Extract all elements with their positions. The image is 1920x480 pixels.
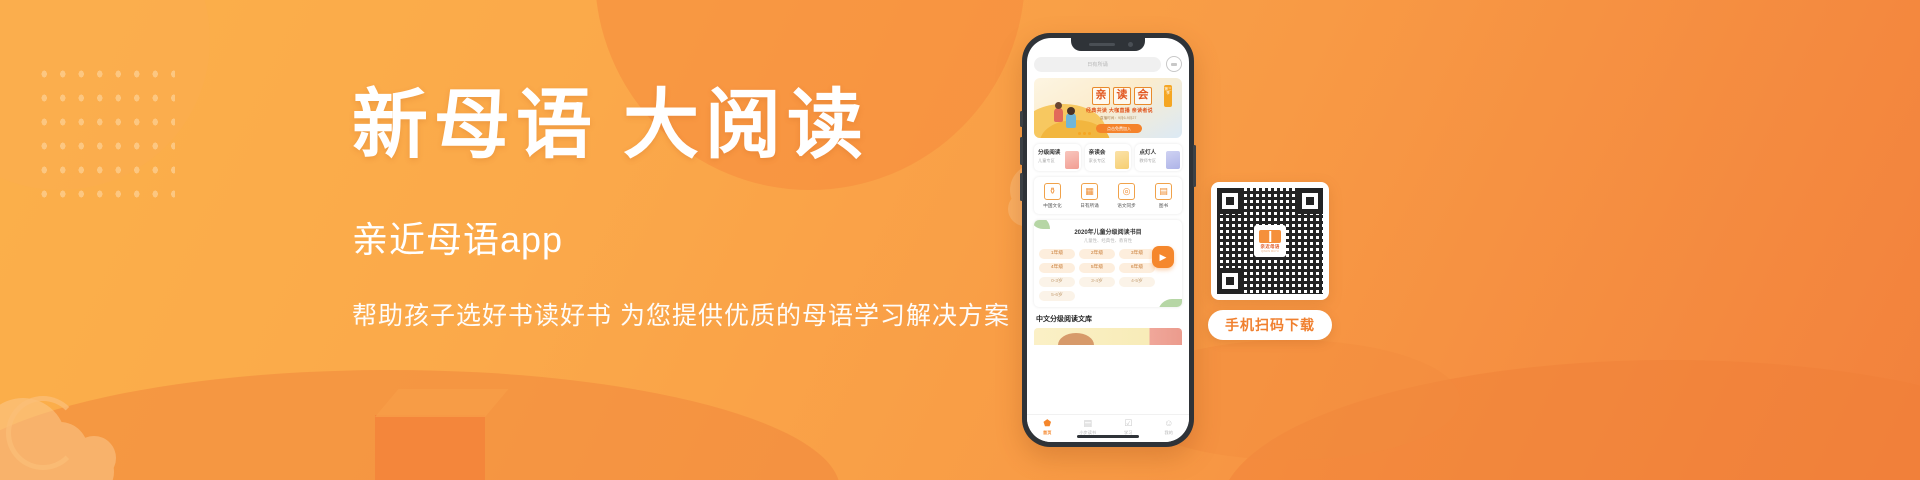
sync-icon: ◎ [1118, 183, 1135, 200]
tab-home[interactable]: ⬟ 首页 [1027, 419, 1068, 436]
message-icon[interactable] [1166, 56, 1182, 72]
tab-label: 我的 [1149, 430, 1190, 436]
phone-volume-up-button [1020, 137, 1023, 165]
phone-home-indicator [1077, 435, 1139, 438]
promo-child-illustration-2 [1066, 113, 1076, 128]
banner-headline: 新母语 大阅读 [352, 88, 1012, 164]
promo-ribbon: 第三季 [1164, 85, 1172, 107]
promo-subtitle: 经典共读 大咖直播 亲读者说 [1086, 107, 1153, 114]
category-thumbnail [1115, 151, 1129, 169]
promo-title-char: 会 [1134, 87, 1152, 105]
leaf-decoration-top [1034, 220, 1050, 229]
quick-link-label: 日有所诵 [1071, 203, 1108, 209]
promo-title: 亲 读 会 [1092, 87, 1152, 105]
play-video-icon[interactable]: ▶ [1152, 246, 1174, 268]
download-button[interactable]: 手机扫码下载 [1208, 310, 1332, 340]
grade-chip[interactable]: 3年级 [1119, 249, 1155, 259]
category-thumbnail [1065, 151, 1079, 169]
quick-link-recite[interactable]: ▦ 日有所诵 [1071, 183, 1108, 209]
promo-title-char: 读 [1113, 87, 1131, 105]
list-icon: ▤ [1068, 419, 1109, 428]
tab-label: 首页 [1027, 430, 1068, 436]
app-home-screen: 日有所诵 亲 读 会 第三季 经典共读 大咖直播 亲读者说 直播时间：9 [1027, 38, 1189, 442]
age-chip[interactable]: 5-6岁 [1039, 291, 1075, 301]
app-promo-banner[interactable]: 亲 读 会 第三季 经典共读 大咖直播 亲读者说 直播时间：9月6-9月27 点… [1034, 78, 1182, 138]
grade-chip[interactable]: 2年级 [1079, 249, 1115, 259]
tab-study[interactable]: ☑ 学习 [1108, 419, 1149, 436]
quick-link-label: 语文同步 [1108, 203, 1145, 209]
promo-cta-button[interactable]: 点击免费加入 [1096, 124, 1142, 133]
library-section-title: 中文分级阅读文库 [1034, 314, 1182, 324]
grade-chip[interactable]: 5年级 [1079, 263, 1115, 273]
promo-title-char: 亲 [1092, 87, 1110, 105]
tab-profile[interactable]: ☺ 我的 [1149, 419, 1190, 436]
quick-link-culture[interactable]: ⚱ 中国文化 [1034, 183, 1071, 209]
book-icon: ▤ [1155, 183, 1172, 200]
grade-chip[interactable]: 1年级 [1039, 249, 1075, 259]
leaf-decoration-bottom [1158, 299, 1182, 307]
decorative-cube [375, 415, 485, 480]
age-chip[interactable]: 0-3岁 [1039, 277, 1075, 287]
recite-icon: ▦ [1081, 183, 1098, 200]
age-chip[interactable]: 3-4岁 [1079, 277, 1115, 287]
grade-chip[interactable]: 4年级 [1039, 263, 1075, 273]
phone-screen: 日有所诵 亲 读 会 第三季 经典共读 大咖直播 亲读者说 直播时间：9 [1027, 38, 1189, 442]
qr-code-image: 亲近母语 QINJIN MUYU [1217, 188, 1323, 294]
app-category-cards: 分级阅读 儿童专区 亲读会 家长专区 点灯人 教师专区 [1034, 144, 1182, 171]
banner-subline: 亲近母语app [352, 222, 1012, 258]
promo-date: 直播时间：9月6-9月27 [1100, 116, 1136, 121]
category-card-graded-reading[interactable]: 分级阅读 儿童专区 [1034, 144, 1081, 171]
phone-notch [1071, 38, 1145, 51]
app-search-input[interactable]: 日有所诵 [1034, 57, 1161, 72]
decorative-dot-grid [35, 62, 175, 212]
tab-reading[interactable]: ▤ 小步读书 [1068, 419, 1109, 436]
phone-mockup: 日有所诵 亲 读 会 第三季 经典共读 大咖直播 亲读者说 直播时间：9 [1022, 33, 1194, 447]
quick-link-sync[interactable]: ◎ 语文同步 [1108, 183, 1145, 209]
phone-mute-button [1020, 111, 1023, 127]
app-quick-links: ⚱ 中国文化 ▦ 日有所诵 ◎ 语文同步 ▤ 图书 [1034, 177, 1182, 214]
qr-code-card[interactable]: 亲近母语 QINJIN MUYU [1211, 182, 1329, 300]
checklist-icon: ☑ [1108, 419, 1149, 428]
home-icon: ⬟ [1027, 419, 1068, 428]
banner-copy: 新母语 大阅读 亲近母语app 帮助孩子选好书读好书 为您提供优质的母语学习解决… [352, 88, 1012, 329]
promo-carousel-dots[interactable] [1078, 132, 1091, 135]
user-icon: ☺ [1149, 419, 1190, 428]
brand-logo: 亲近母语 QINJIN MUYU [1254, 225, 1286, 257]
booklist-title: 2020年儿童分级阅读书目 [1039, 227, 1177, 236]
app-booklist-section: 2020年儿童分级阅读书目 儿童性、经典性、教育性 1年级 2年级 3年级 4年… [1034, 220, 1182, 307]
quick-link-label: 中国文化 [1034, 203, 1071, 209]
quick-link-label: 图书 [1145, 203, 1182, 209]
culture-icon: ⚱ [1044, 183, 1061, 200]
grade-chip[interactable]: 6年级 [1119, 263, 1155, 273]
decorative-swirl [6, 396, 80, 470]
app-search-row: 日有所诵 [1034, 56, 1182, 72]
promo-child-illustration-1 [1054, 108, 1063, 122]
category-thumbnail [1166, 151, 1180, 169]
phone-power-button [1193, 145, 1196, 187]
booklist-chips: 1年级 2年级 3年级 4年级 5年级 6年级 0-3岁 3-4岁 4-5岁 5… [1039, 249, 1155, 301]
open-book-icon [1259, 230, 1281, 243]
banner-tagline: 帮助孩子选好书读好书 为您提供优质的母语学习解决方案 [352, 304, 1012, 329]
category-card-teacher[interactable]: 点灯人 教师专区 [1135, 144, 1182, 171]
booklist-subtitle: 儿童性、经典性、教育性 [1039, 238, 1177, 244]
qr-finder-pattern [1217, 268, 1243, 294]
brand-logo-pinyin: QINJIN MUYU [1261, 250, 1279, 253]
phone-volume-down-button [1020, 173, 1023, 201]
library-preview-card[interactable] [1034, 328, 1182, 345]
category-card-parent-club[interactable]: 亲读会 家长专区 [1085, 144, 1132, 171]
age-chip[interactable]: 4-5岁 [1119, 277, 1155, 287]
promo-banner: 新母语 大阅读 亲近母语app 帮助孩子选好书读好书 为您提供优质的母语学习解决… [0, 0, 1920, 480]
quick-link-books[interactable]: ▤ 图书 [1145, 183, 1182, 209]
